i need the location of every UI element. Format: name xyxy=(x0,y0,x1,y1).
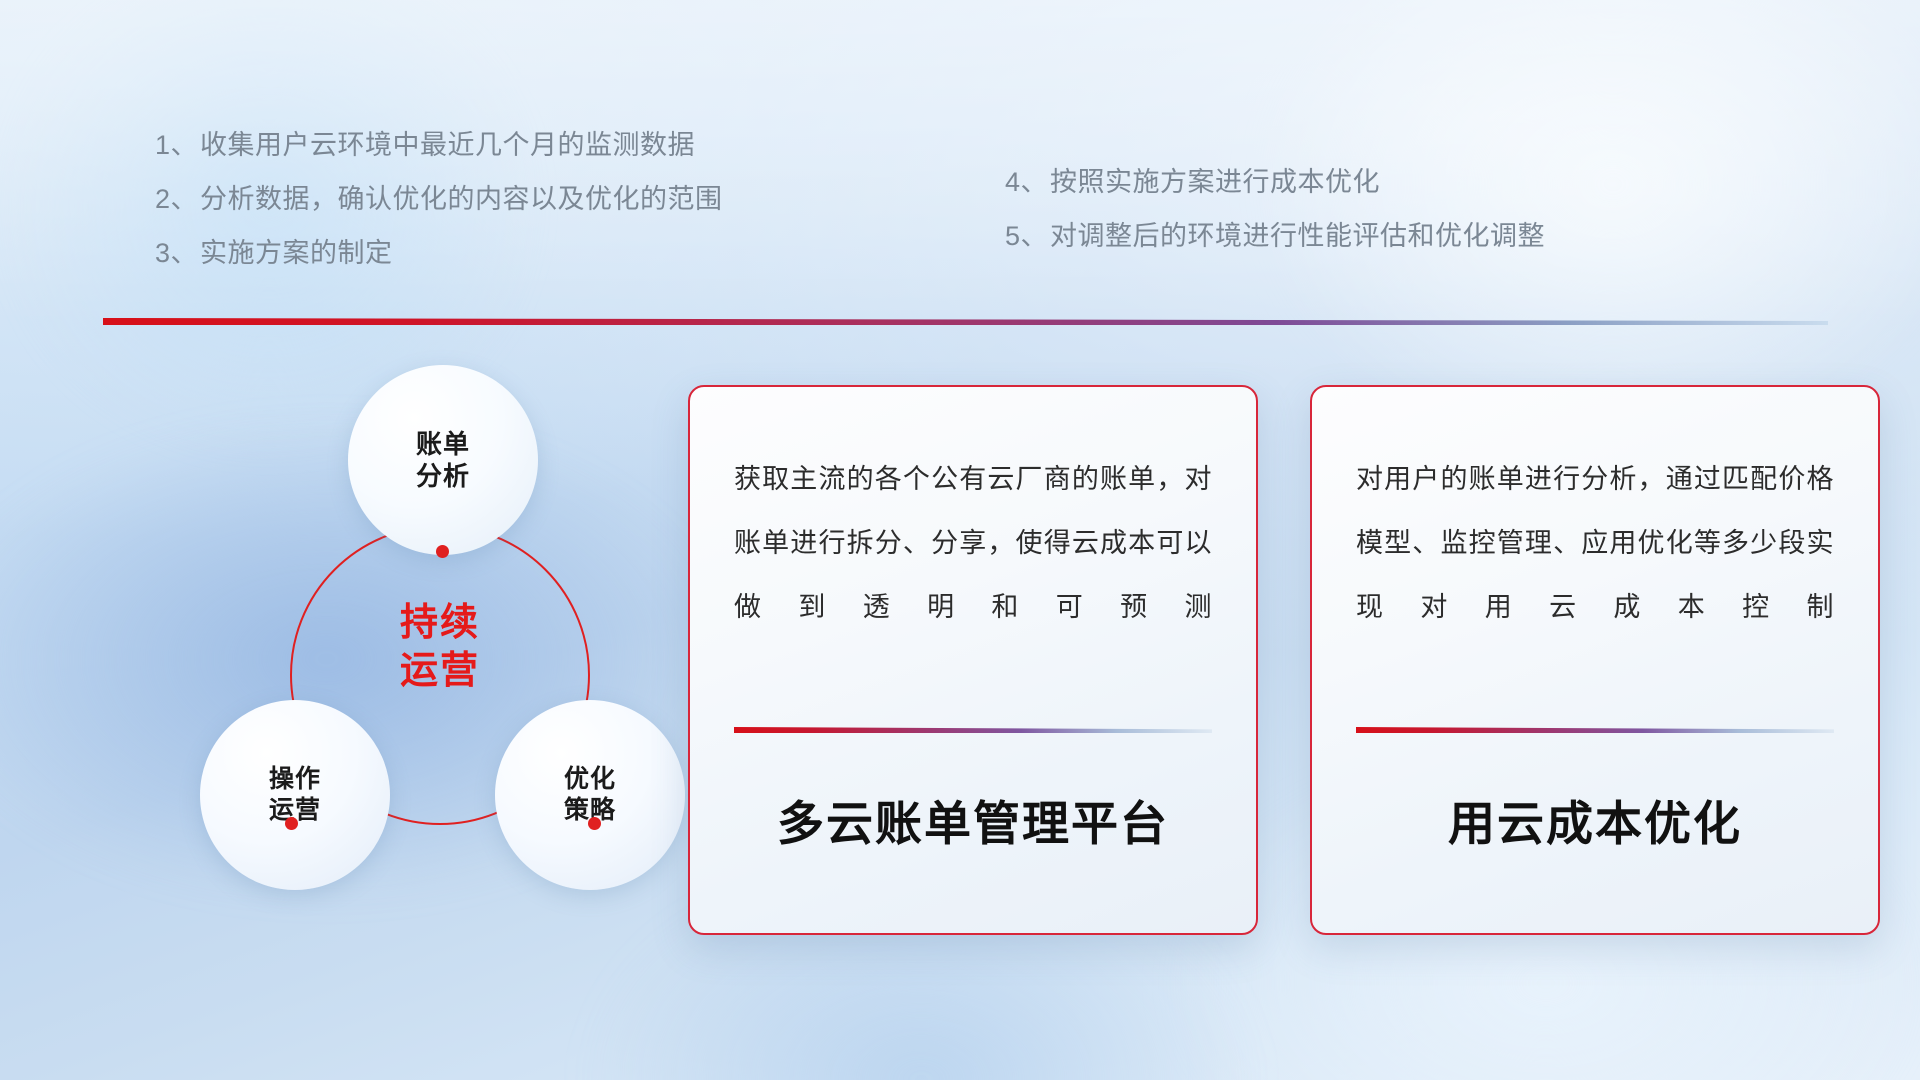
bubble-optimization-strategy[interactable]: 优化 策略 xyxy=(495,700,685,890)
list-item-number: 4、 xyxy=(1005,155,1048,209)
card-cloud-cost-optimization[interactable]: 对用户的账单进行分析，通过匹配价格模型、监控管理、应用优化等多少段实现对用云成本… xyxy=(1310,385,1880,935)
bubble-label-line1: 优化 xyxy=(564,764,616,795)
list-item-label: 按照实施方案进行成本优化 xyxy=(1050,155,1380,209)
list-item-number: 2、 xyxy=(155,172,198,226)
card-title: 用云成本优化 xyxy=(1356,785,1834,854)
list-item: 3、 实施方案的制定 xyxy=(155,226,723,280)
card-title: 多云账单管理平台 xyxy=(734,785,1212,854)
bubble-operations[interactable]: 操作 运营 xyxy=(200,700,390,890)
list-item-number: 5、 xyxy=(1005,209,1048,263)
card-body-text: 对用户的账单进行分析，通过匹配价格模型、监控管理、应用优化等多少段实现对用云成本… xyxy=(1356,447,1834,687)
cycle-diagram: 账单 分析 操作 运营 优化 策略 持续 运营 xyxy=(95,355,655,955)
steps-list: 1、 收集用户云环境中最近几个月的监测数据 2、 分析数据，确认优化的内容以及优… xyxy=(0,0,1920,300)
list-item-number: 1、 xyxy=(155,118,198,172)
list-item-label: 实施方案的制定 xyxy=(200,226,393,280)
center-label-line2: 运营 xyxy=(355,648,525,696)
list-item: 1、 收集用户云环境中最近几个月的监测数据 xyxy=(155,118,723,172)
list-item-label: 对调整后的环境进行性能评估和优化调整 xyxy=(1050,209,1545,263)
bubble-label-line1: 操作 xyxy=(269,764,321,795)
center-label-line1: 持续 xyxy=(355,600,525,648)
card-rule-divider xyxy=(1356,727,1834,733)
bubble-label-line2: 分析 xyxy=(416,460,470,493)
card-body-text: 获取主流的各个公有云厂商的账单，对账单进行拆分、分享，使得云成本可以做到透明和可… xyxy=(734,447,1212,687)
list-item-label: 收集用户云环境中最近几个月的监测数据 xyxy=(200,118,695,172)
node-dot-icon xyxy=(588,817,601,830)
bubble-label-line1: 账单 xyxy=(416,428,470,461)
diagram-center-label: 持续 运营 xyxy=(355,600,525,695)
list-item: 5、 对调整后的环境进行性能评估和优化调整 xyxy=(1005,209,1545,263)
steps-right-column: 4、 按照实施方案进行成本优化 5、 对调整后的环境进行性能评估和优化调整 xyxy=(1005,155,1545,263)
node-dot-icon xyxy=(285,817,298,830)
steps-left-column: 1、 收集用户云环境中最近几个月的监测数据 2、 分析数据，确认优化的内容以及优… xyxy=(155,118,723,280)
list-item-number: 3、 xyxy=(155,226,198,280)
list-item: 2、 分析数据，确认优化的内容以及优化的范围 xyxy=(155,172,723,226)
list-item-label: 分析数据，确认优化的内容以及优化的范围 xyxy=(200,172,723,226)
bubble-bill-analysis[interactable]: 账单 分析 xyxy=(348,365,538,555)
list-item: 4、 按照实施方案进行成本优化 xyxy=(1005,155,1545,209)
card-rule-divider xyxy=(734,727,1212,733)
card-multicloud-billing[interactable]: 获取主流的各个公有云厂商的账单，对账单进行拆分、分享，使得云成本可以做到透明和可… xyxy=(688,385,1258,935)
node-dot-icon xyxy=(436,545,449,558)
